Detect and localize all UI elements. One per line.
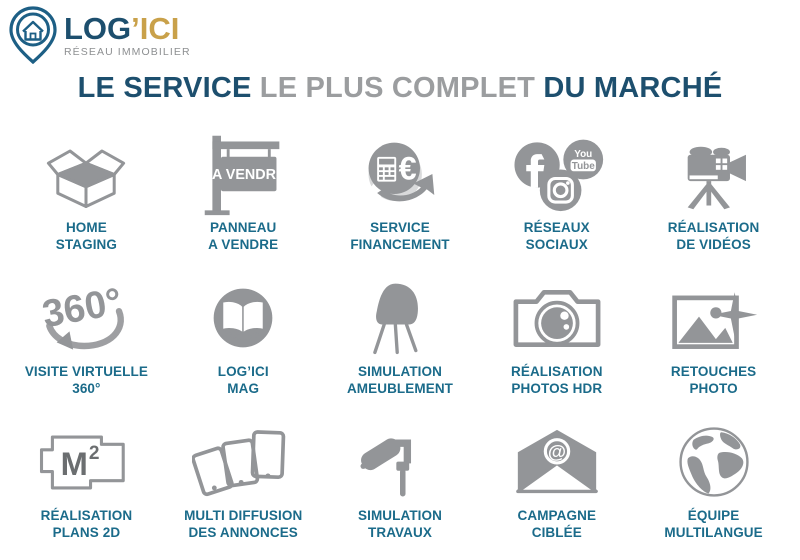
sign-text: A VENDRE [212, 167, 286, 183]
map-pin-house-icon [6, 6, 60, 64]
service-label: VISITE VIRTUELLE 360° [25, 364, 148, 398]
title-part-2: LE PLUS COMPLET [260, 72, 535, 104]
open-book-circle-icon [165, 276, 322, 360]
service-label: MULTI DIFFUSION DES ANNONCES [184, 508, 302, 542]
title-part-1: LE SERVICE [78, 72, 252, 104]
360-arrow-icon: 360° [8, 276, 165, 360]
globe-icon [635, 420, 792, 504]
svg-text:€: € [399, 151, 417, 187]
svg-text:You: You [574, 149, 592, 160]
service-item-realisation-de-videos[interactable]: RÉALISATION DE VIDÉOS [635, 128, 792, 272]
service-item-equipe-multilangue[interactable]: ÉQUIPE MULTILANGUE [635, 416, 792, 560]
service-label: SIMULATION AMEUBLEMENT [347, 364, 453, 398]
service-label: RÉSEAUX SOCIAUX [524, 220, 590, 254]
service-label: RETOUCHES PHOTO [671, 364, 756, 398]
for-sale-sign-icon: A VENDRE [165, 132, 322, 216]
service-item-retouches-photo[interactable]: RETOUCHES PHOTO [635, 272, 792, 416]
service-label: SERVICE FINANCEMENT [350, 220, 449, 254]
open-box-icon [8, 132, 165, 216]
services-grid: HOME STAGING A VENDRE PANNEAU A VENDRE [8, 128, 792, 560]
service-item-simulation-ameublement[interactable]: SIMULATION AMEUBLEMENT [322, 272, 479, 416]
plan-m-text: M [61, 445, 88, 482]
calculator-euro-arrow-icon: € [322, 132, 479, 216]
svg-text:Tube: Tube [572, 161, 595, 172]
service-label: RÉALISATION PLANS 2D [41, 508, 133, 542]
paint-roller-icon [322, 420, 479, 504]
logo-tagline: RÉSEAU IMMOBILIER [64, 46, 191, 58]
service-item-visite-virtuelle-360[interactable]: 360° VISITE VIRTUELLE 360° [8, 272, 165, 416]
service-item-realisation-photos-hdr[interactable]: RÉALISATION PHOTOS HDR [478, 272, 635, 416]
service-item-logici-mag[interactable]: LOG’ICI MAG [165, 272, 322, 416]
svg-text:@: @ [548, 440, 566, 461]
logo-apostrophe: ’ [131, 11, 140, 46]
service-item-realisation-plans-2d[interactable]: M 2 RÉALISATION PLANS 2D [8, 416, 165, 560]
service-label: LOG’ICI MAG [218, 364, 269, 398]
envelope-at-icon: @ [478, 420, 635, 504]
logo-wordmark: LOG’ICI [64, 13, 191, 44]
service-item-multi-diffusion[interactable]: MULTI DIFFUSION DES ANNONCES [165, 416, 322, 560]
service-label: CAMPAGNE CIBLÉE [518, 508, 597, 542]
brand-logo: LOG’ICI RÉSEAU IMMOBILIER [6, 4, 216, 66]
video-camera-tripod-icon [635, 132, 792, 216]
photo-camera-icon [478, 276, 635, 360]
service-label: ÉQUIPE MULTILANGUE [664, 508, 762, 542]
logo-word-log: LOG [64, 11, 131, 46]
floor-plan-m2-icon: M 2 [8, 420, 165, 504]
instagram-icon [540, 169, 582, 211]
three-tablets-icon [165, 420, 322, 504]
plan-exponent-text: 2 [89, 442, 100, 463]
service-item-home-staging[interactable]: HOME STAGING [8, 128, 165, 272]
chair-icon [322, 276, 479, 360]
service-item-panneau-a-vendre[interactable]: A VENDRE PANNEAU A VENDRE [165, 128, 322, 272]
title-part-3: DU MARCHÉ [543, 72, 722, 104]
service-item-reseaux-sociaux[interactable]: You Tube RÉSEAUX SOCIAUX [478, 128, 635, 272]
service-item-service-financement[interactable]: € SERVICE FINANCEMENT [322, 128, 479, 272]
service-label: RÉALISATION PHOTOS HDR [511, 364, 603, 398]
logo-word-ici: ICI [140, 11, 180, 46]
picture-sparkle-icon [635, 276, 792, 360]
service-item-campagne-ciblee[interactable]: @ CAMPAGNE CIBLÉE [478, 416, 635, 560]
service-label: PANNEAU A VENDRE [208, 220, 278, 254]
service-item-simulation-travaux[interactable]: SIMULATION TRAVAUX [322, 416, 479, 560]
service-label: HOME STAGING [56, 220, 117, 254]
service-label: RÉALISATION DE VIDÉOS [668, 220, 760, 254]
service-label: SIMULATION TRAVAUX [358, 508, 442, 542]
page-title: LE SERVICE LE PLUS COMPLET DU MARCHÉ [0, 72, 800, 105]
social-networks-icon: You Tube [478, 132, 635, 216]
